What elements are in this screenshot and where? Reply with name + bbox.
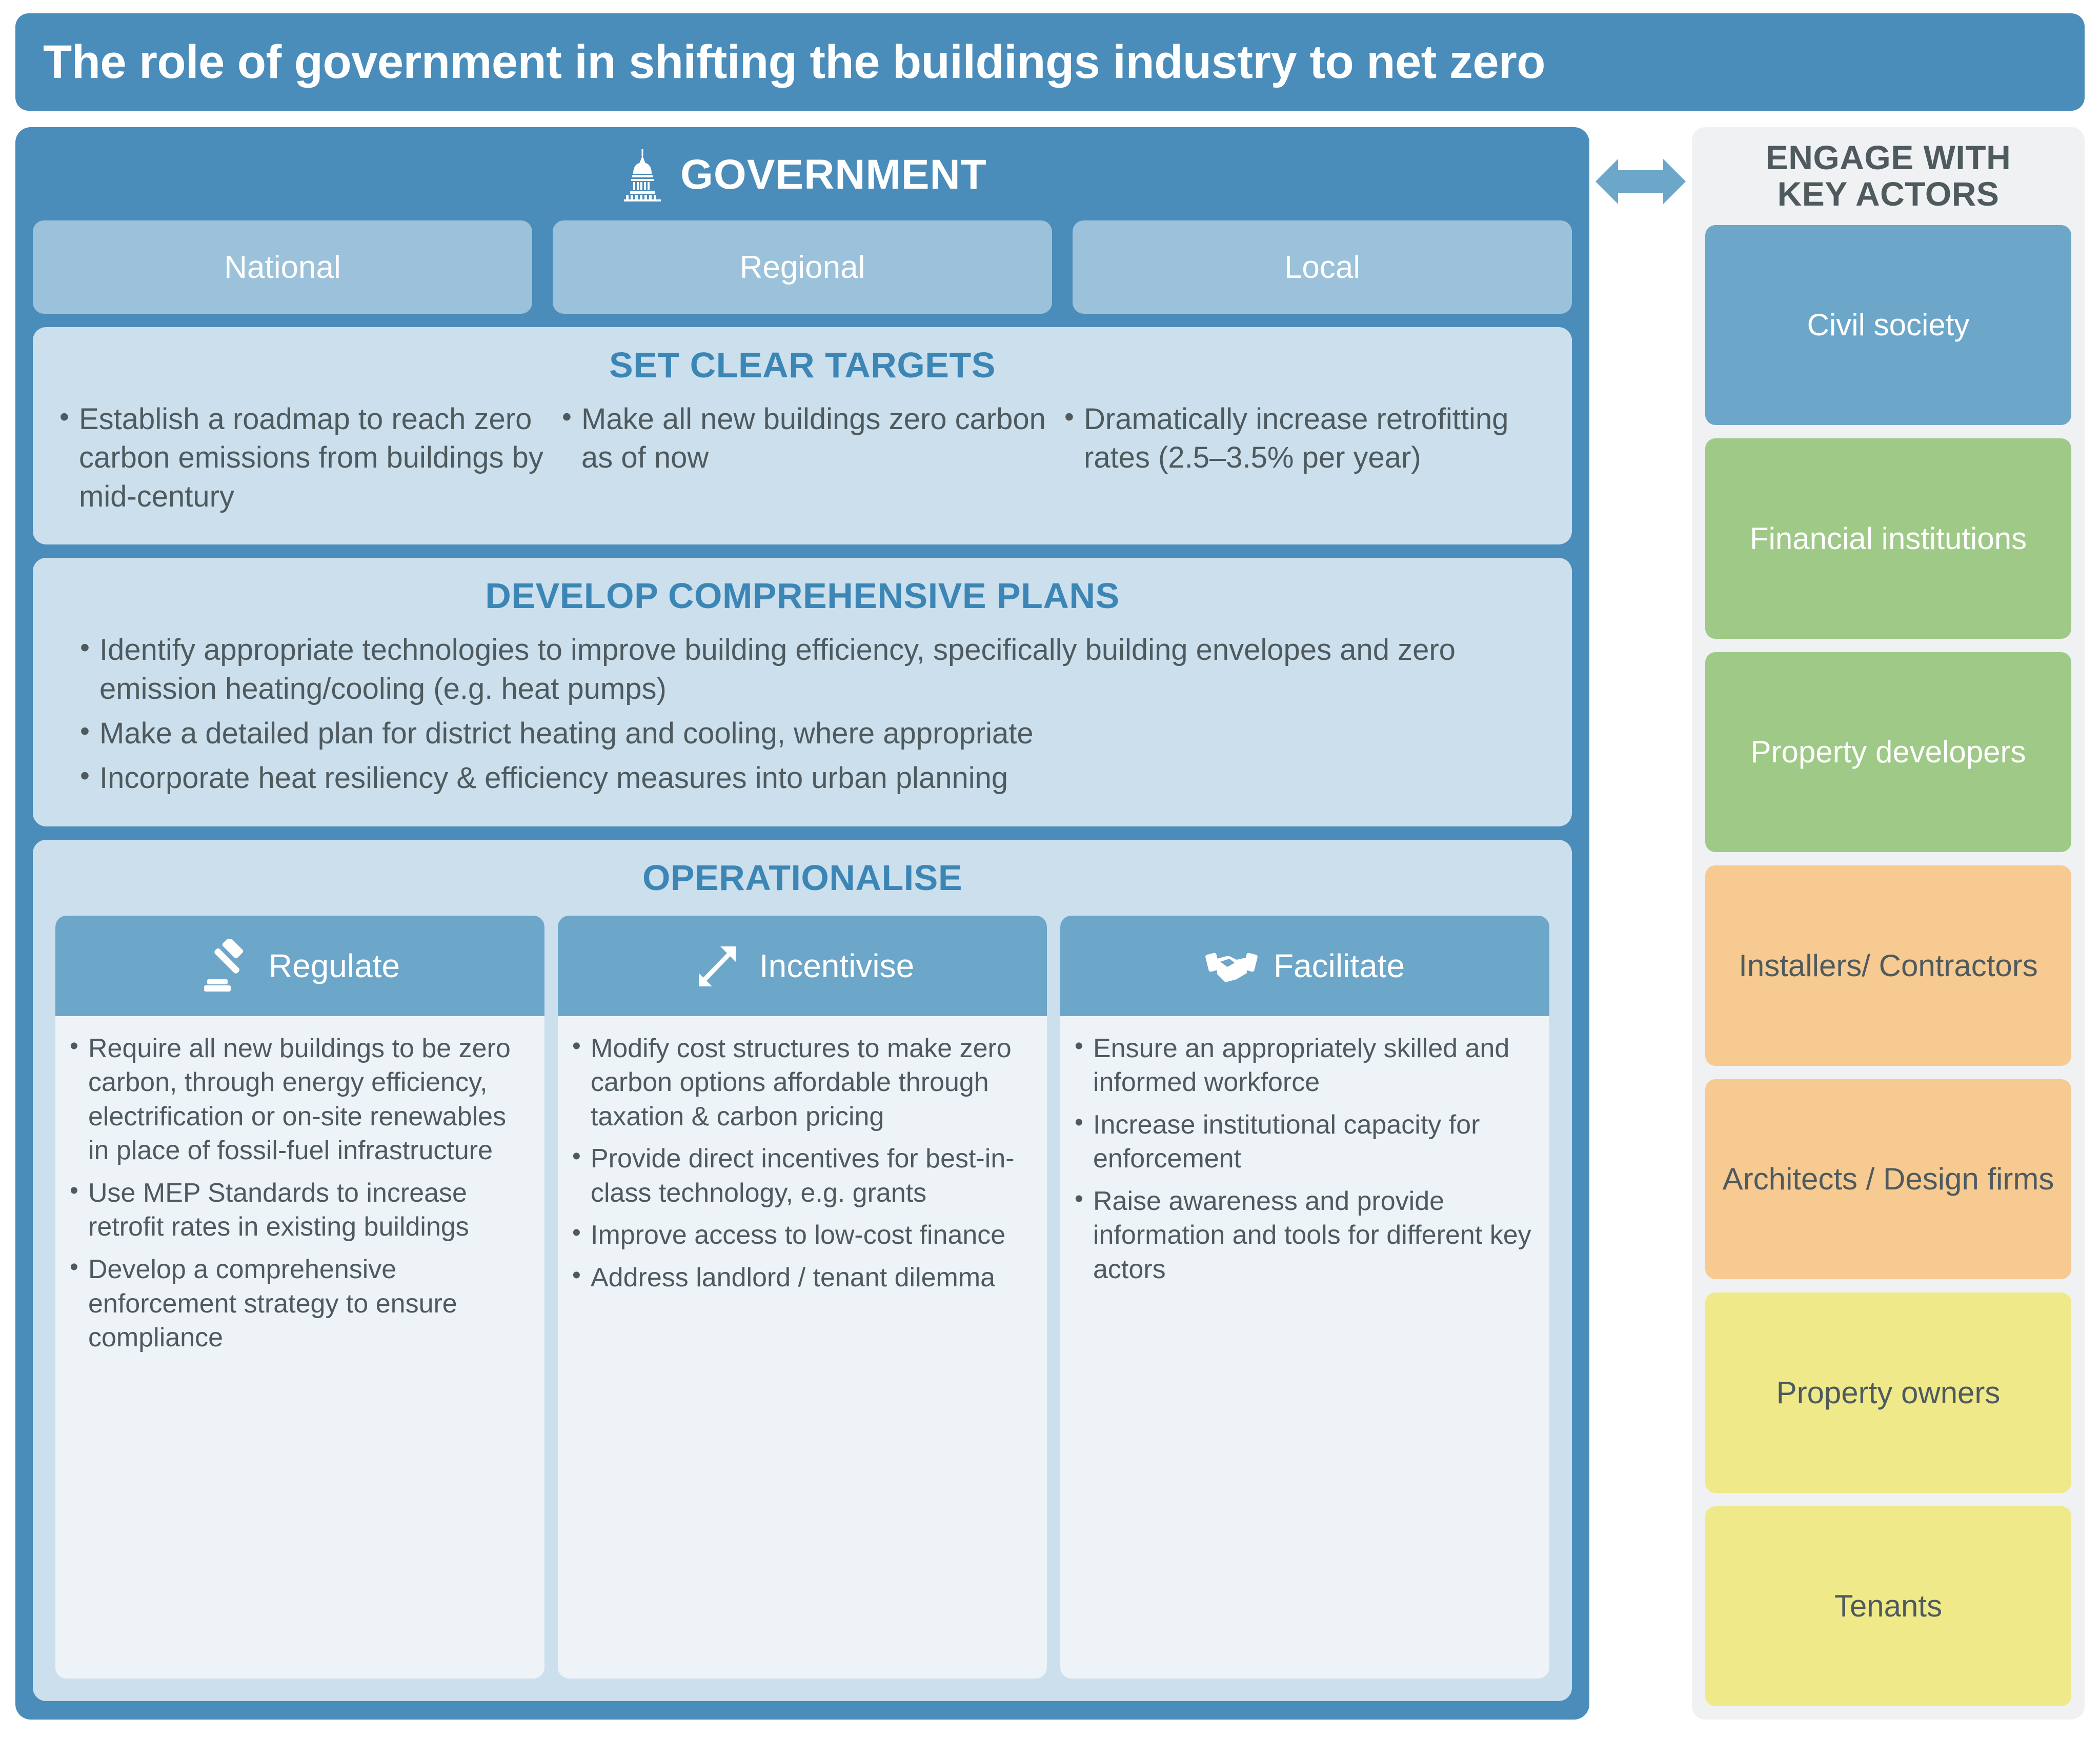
operationalise-columns: Regulate Require all new buildings to be… [55,916,1549,1679]
actor-item-financial-institutions[interactable]: Financial institutions [1705,438,2071,639]
section-heading: SET CLEAR TARGETS [55,345,1549,386]
operationalise-card-facilitate[interactable]: Facilitate Ensure an appropriately skill… [1060,916,1549,1679]
section-heading: DEVELOP COMPREHENSIVE PLANS [55,575,1549,616]
card-body: Ensure an appropriately skilled and info… [1060,1016,1549,1309]
actor-item-property-owners[interactable]: Property owners [1705,1292,2071,1493]
bullet-item: Make all new buildings zero carbon as of… [558,400,1047,477]
actor-list: Civil society Financial institutions Pro… [1705,225,2071,1706]
card-body: Require all new buildings to be zero car… [55,1016,544,1378]
gavel-icon [200,939,253,993]
actor-item-tenants[interactable]: Tenants [1705,1506,2071,1707]
section-heading: OPERATIONALISE [55,857,1549,898]
sidebar-heading-line1: ENGAGE WITH [1766,138,2011,176]
bullet-item: Establish a roadmap to reach zero carbon… [55,400,544,516]
targets-column: Make all new buildings zero carbon as of… [558,400,1047,522]
section-set-clear-targets: SET CLEAR TARGETS Establish a roadmap to… [33,327,1572,544]
level-label: Local [1284,249,1360,286]
capitol-building-icon [618,148,667,201]
operationalise-card-incentivise[interactable]: Incentivise Modify cost structures to ma… [558,916,1047,1679]
card-title: Facilitate [1274,947,1405,985]
card-header: Facilitate [1060,916,1549,1016]
card-header: Incentivise [558,916,1047,1016]
actor-item-architects-design-firms[interactable]: Architects / Design firms [1705,1079,2071,1280]
page-title: The role of government in shifting the b… [43,37,1545,87]
actor-label: Architects / Design firms [1723,1161,2054,1197]
actor-label: Financial institutions [1750,521,2027,556]
targets-column: Establish a roadmap to reach zero carbon… [55,400,544,522]
title-bar: The role of government in shifting the b… [15,13,2085,111]
government-panel: GOVERNMENT National Regional Local SET C… [15,127,1589,1720]
operationalise-card-regulate[interactable]: Regulate Require all new buildings to be… [55,916,544,1679]
card-header: Regulate [55,916,544,1016]
actor-label: Installers/ Contractors [1739,948,2038,983]
sidebar-heading: ENGAGE WITH KEY ACTORS [1705,139,2071,213]
targets-columns: Establish a roadmap to reach zero carbon… [55,400,1549,522]
actor-label: Property developers [1751,734,2026,770]
bullet-item: Incorporate heat resiliency & efficiency… [76,759,1529,797]
bullet-item: Use MEP Standards to increase retrofit r… [66,1176,527,1244]
diagonal-double-arrow-icon [691,939,744,993]
actor-label: Civil society [1807,307,1970,342]
bullet-item: Make a detailed plan for district heatin… [76,714,1529,753]
actor-item-property-developers[interactable]: Property developers [1705,652,2071,853]
section-develop-comprehensive-plans: DEVELOP COMPREHENSIVE PLANS Identify app… [33,558,1572,826]
bullet-item: Raise awareness and provide information … [1071,1184,1532,1287]
targets-column: Dramatically increase retrofitting rates… [1060,400,1549,522]
government-heading: GOVERNMENT [680,151,987,199]
bullet-item: Modify cost structures to make zero carb… [568,1032,1029,1134]
bullet-item: Provide direct incentives for best-in-cl… [568,1142,1029,1210]
body-row: GOVERNMENT National Regional Local SET C… [15,127,2085,1727]
bullet-item: Require all new buildings to be zero car… [66,1032,527,1168]
actor-label: Tenants [1834,1588,1942,1624]
card-body: Modify cost structures to make zero carb… [558,1016,1047,1318]
bullet-item: Improve access to low-cost finance [568,1218,1029,1252]
card-title: Regulate [269,947,400,985]
bullet-item: Dramatically increase retrofitting rates… [1060,400,1549,477]
sidebar-heading-line2: KEY ACTORS [1778,175,2000,213]
plans-bullet-list: Identify appropriate technologies to imp… [55,631,1549,798]
level-pill-local[interactable]: Local [1073,220,1572,314]
actor-item-civil-society[interactable]: Civil society [1705,225,2071,426]
level-label: National [224,249,340,286]
card-title: Incentivise [759,947,914,985]
section-operationalise: OPERATIONALISE [33,840,1572,1701]
bullet-item: Address landlord / tenant dilemma [568,1261,1029,1295]
level-pill-regional[interactable]: Regional [553,220,1052,314]
actor-label: Property owners [1776,1375,2001,1410]
key-actors-sidebar: ENGAGE WITH KEY ACTORS Civil society Fin… [1692,127,2085,1720]
bullet-item: Increase institutional capacity for enfo… [1071,1108,1532,1176]
double-headed-arrow-icon [1596,151,1686,212]
government-levels: National Regional Local [33,220,1572,314]
bullet-item: Ensure an appropriately skilled and info… [1071,1032,1532,1100]
actor-item-installers-contractors[interactable]: Installers/ Contractors [1705,865,2071,1066]
bullet-item: Identify appropriate technologies to imp… [76,631,1529,708]
level-label: Regional [740,249,865,286]
government-header: GOVERNMENT [33,143,1572,207]
bullet-item: Develop a comprehensive enforcement stra… [66,1252,527,1355]
connector [1589,127,1692,212]
handshake-icon [1205,939,1258,993]
level-pill-national[interactable]: National [33,220,532,314]
infographic-root: The role of government in shifting the b… [0,0,2100,1738]
